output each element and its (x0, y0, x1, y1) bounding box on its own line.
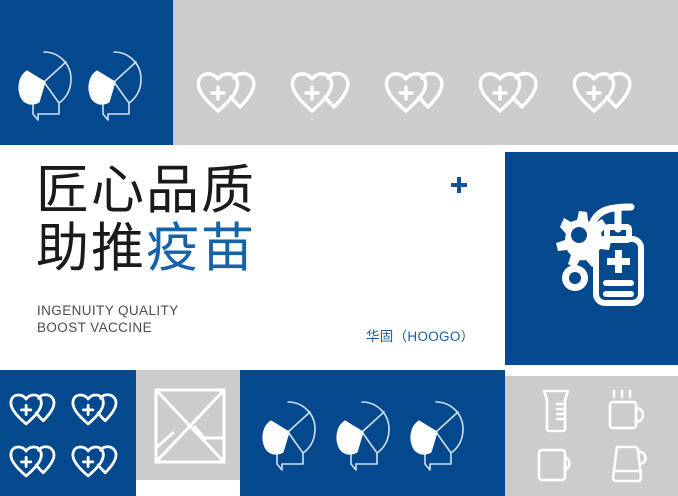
pitcher-icon (605, 442, 651, 488)
headline-line-1: 匠心品质 (36, 162, 436, 220)
broken-image-placeholder-icon (154, 388, 226, 464)
brand-name: 华固（HOOGO） (366, 325, 474, 345)
steaming-mug-icon (605, 388, 651, 434)
headline-line-2-accent: 疫苗 (146, 218, 256, 279)
masked-head-icon (14, 48, 76, 128)
bottom-heart-icon-grid (8, 388, 128, 490)
masked-head-icon (332, 398, 394, 478)
top-masked-head-group (14, 48, 146, 128)
hand-sanitizer-bottle-icon (532, 195, 652, 315)
double-heart-plus-icon (572, 70, 644, 124)
subtitle-line-1: INGENUITY QUALITY (37, 302, 179, 319)
double-heart-plus-icon (196, 70, 268, 124)
poster-canvas: 匠心品质 助推疫苗 INGENUITY QUALITY BOOST VACCIN… (0, 0, 678, 496)
bottom-masked-head-group (258, 398, 468, 478)
germ-small-icon (562, 265, 588, 291)
plus-icon (450, 176, 468, 194)
masked-head-icon (84, 48, 146, 128)
headline-line-2-black: 助推 (36, 218, 146, 279)
double-heart-plus-icon (71, 444, 127, 486)
masked-head-icon (258, 398, 320, 478)
bottom-vessel-icon-grid (520, 384, 664, 492)
double-heart-plus-icon (9, 392, 65, 434)
subtitle-line-2: BOOST VACCINE (37, 319, 179, 336)
double-heart-plus-icon (71, 392, 127, 434)
top-heart-icon-row (196, 70, 644, 124)
measuring-beaker-icon (536, 388, 576, 434)
headline-line-2: 助推疫苗 (36, 220, 436, 278)
mug-icon (535, 443, 577, 487)
double-heart-plus-icon (290, 70, 362, 124)
masked-head-icon (406, 398, 468, 478)
subtitle-block: INGENUITY QUALITY BOOST VACCINE (37, 302, 179, 336)
double-heart-plus-icon (384, 70, 456, 124)
double-heart-plus-icon (478, 70, 550, 124)
headline-block: 匠心品质 助推疫苗 (36, 162, 436, 278)
double-heart-plus-icon (9, 444, 65, 486)
